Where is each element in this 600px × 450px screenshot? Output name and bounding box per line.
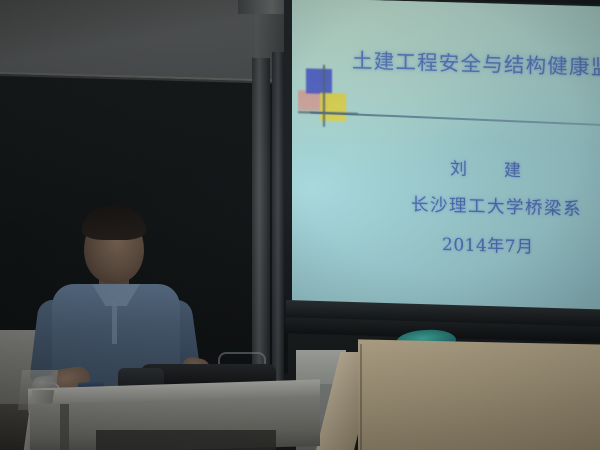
presenter-shirt-placket — [112, 300, 117, 344]
blackboard-right-edge — [252, 58, 270, 374]
foreground-cabinet — [358, 339, 600, 450]
projected-slide: 土建工程安全与结构健康监测 刘 建 长沙理工大学桥梁系 2014年7月 — [292, 0, 600, 312]
slide-date: 2014年7月 — [442, 230, 534, 257]
slide-design-logo-icon — [298, 64, 358, 128]
slide-title: 土建工程安全与结构健康监测 — [352, 44, 600, 81]
podium-under-shadow — [96, 430, 276, 450]
cabinet-seam — [360, 344, 362, 450]
podium-leg — [60, 404, 69, 450]
slide-affiliation: 长沙理工大学桥梁系 — [411, 191, 582, 221]
slide-presenter-name: 刘 建 — [450, 154, 531, 181]
screen-left-frame-edge — [272, 52, 284, 382]
logo-square-blue — [306, 68, 332, 94]
logo-vertical-line — [323, 65, 325, 127]
lecture-photo-scene: 土建工程安全与结构健康监测 刘 建 长沙理工大学桥梁系 2014年7月 — [0, 0, 600, 450]
